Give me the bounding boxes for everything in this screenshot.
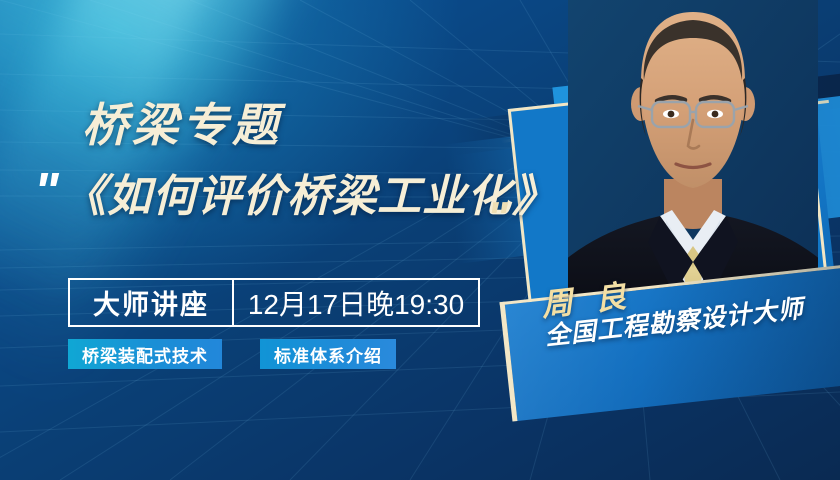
topic-tag-list: 桥梁装配式技术 标准体系介绍	[68, 339, 396, 369]
poster-canvas: " 桥梁专题 《如何评价桥梁工业化》 " 大师讲座 12月17日晚19:30 桥…	[0, 0, 840, 480]
lecture-datetime: 12月17日晚19:30	[234, 280, 478, 325]
topic-tag: 桥梁装配式技术	[68, 339, 222, 369]
quote-open-mark: "	[34, 166, 57, 218]
light-beam	[0, 0, 313, 473]
lecture-info-box: 大师讲座 12月17日晚19:30	[68, 278, 480, 327]
topic-tag-label: 标准体系介绍	[274, 342, 382, 367]
quote-close-mark: "	[487, 196, 506, 240]
topic-tag: 标准体系介绍	[260, 339, 396, 369]
lecture-type-badge: 大师讲座	[70, 280, 234, 325]
topic-tag-label: 桥梁装配式技术	[82, 342, 208, 367]
page-title: 桥梁专题	[82, 102, 282, 148]
page-subtitle: 《如何评价桥梁工业化》	[62, 175, 557, 219]
lecture-datetime-label: 12月17日晚19:30	[248, 283, 464, 323]
lecture-type-label: 大师讲座	[93, 283, 209, 322]
